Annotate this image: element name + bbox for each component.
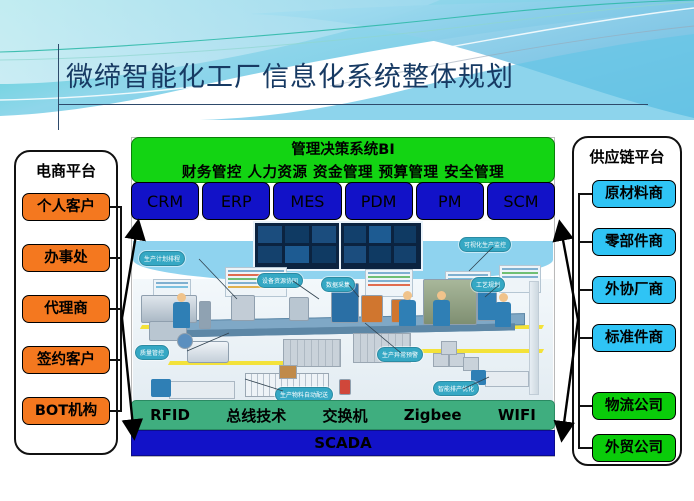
app-box-erp[interactable]: ERP (202, 182, 270, 220)
ecommerce-item-office[interactable]: 办事处 (22, 244, 110, 272)
app-box-scm[interactable]: SCM (487, 182, 555, 220)
network-layer-band: RFID 总线技术 交换机 Zigbee WIFI (131, 400, 555, 430)
ecommerce-item-contract-customer[interactable]: 签约客户 (22, 346, 110, 374)
right-stub-5 (578, 405, 592, 407)
net-item-switch: 交换机 (322, 405, 367, 426)
ecommerce-platform-title: 电商平台 (14, 160, 118, 181)
right-stub-6 (578, 447, 592, 449)
ecommerce-item-individual-customer[interactable]: 个人客户 (22, 193, 110, 221)
bi-title: 管理决策系统BI (291, 138, 394, 159)
supply-item-components[interactable]: 零部件商 (592, 228, 676, 256)
app-box-mes[interactable]: MES (273, 182, 341, 220)
left-bus-line (120, 206, 122, 411)
net-item-fieldbus: 总线技术 (226, 405, 286, 426)
right-stub-2 (578, 241, 592, 243)
ecommerce-item-bot-org[interactable]: BOT机构 (22, 397, 110, 425)
supply-item-standard-parts[interactable]: 标准件商 (592, 324, 676, 352)
factory-illustration: 生产计划排程 设备资源协同 可视化生产监控 数据采集 工艺规划 质量管控 生产异… (133, 221, 553, 403)
page-title: 微缔智能化工厂信息化系统整体规划 (66, 55, 514, 94)
title-vertical-rule (58, 44, 59, 130)
application-row: CRM ERP MES PDM PM SCM (131, 182, 555, 220)
net-item-wifi: WIFI (498, 406, 536, 424)
bi-decision-band: 管理决策系统BI 财务管控 人力资源 资金管理 预算管理 安全管理 (131, 137, 555, 183)
right-stub-1 (578, 193, 592, 195)
right-stub-3 (578, 289, 592, 291)
app-box-pm[interactable]: PM (416, 182, 484, 220)
net-item-rfid: RFID (150, 406, 190, 424)
title-horizontal-rule (58, 104, 648, 105)
app-box-crm[interactable]: CRM (131, 182, 199, 220)
app-box-pdm[interactable]: PDM (345, 182, 413, 220)
supply-item-logistics[interactable]: 物流公司 (592, 392, 676, 420)
supply-item-outsourcing[interactable]: 外协厂商 (592, 276, 676, 304)
supply-chain-platform-title: 供应链平台 (572, 146, 682, 167)
right-bus-line (578, 193, 580, 447)
supply-item-foreign-trade[interactable]: 外贸公司 (592, 434, 676, 462)
bi-subitems: 财务管控 人力资源 资金管理 预算管理 安全管理 (182, 161, 504, 182)
supply-item-raw-material[interactable]: 原材料商 (592, 180, 676, 208)
scada-band: SCADA (131, 430, 555, 456)
ecommerce-item-agent[interactable]: 代理商 (22, 295, 110, 323)
net-item-zigbee: Zigbee (404, 406, 462, 424)
right-stub-4 (578, 337, 592, 339)
